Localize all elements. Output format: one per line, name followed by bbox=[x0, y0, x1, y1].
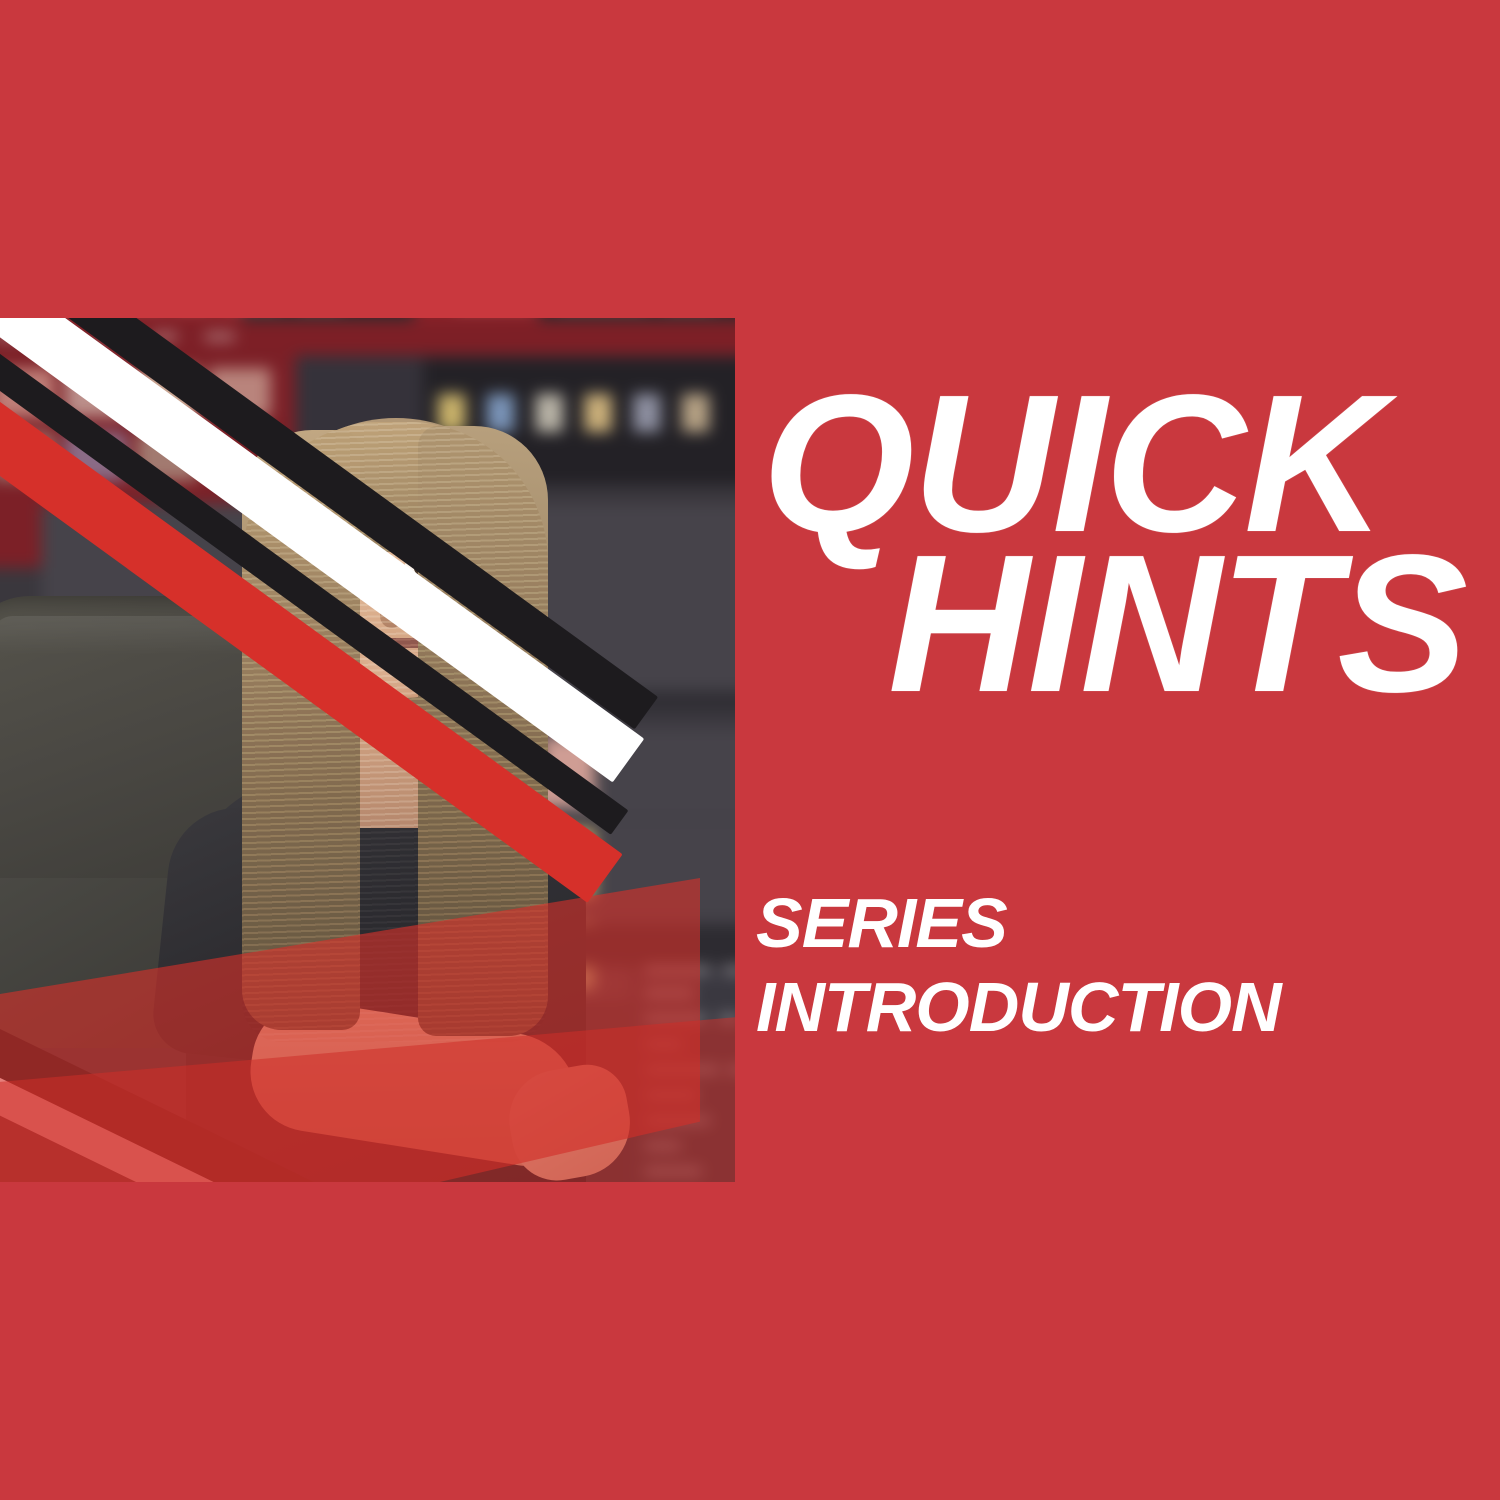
thumbnail-photo: PAN bbox=[0, 318, 735, 1182]
title-block: QUICK HINTS bbox=[756, 378, 1500, 711]
subtitle-line-introduction: INTRODUCTION bbox=[756, 972, 1500, 1042]
thumbnail-canvas: PAN bbox=[0, 0, 1500, 1500]
subtitle-block: SERIES INTRODUCTION bbox=[756, 888, 1500, 1042]
diagonal-stripe-overlay-top-left bbox=[0, 318, 735, 748]
subtitle-line-series: SERIES bbox=[756, 888, 1500, 958]
title-line-hints: HINTS bbox=[888, 538, 1500, 710]
